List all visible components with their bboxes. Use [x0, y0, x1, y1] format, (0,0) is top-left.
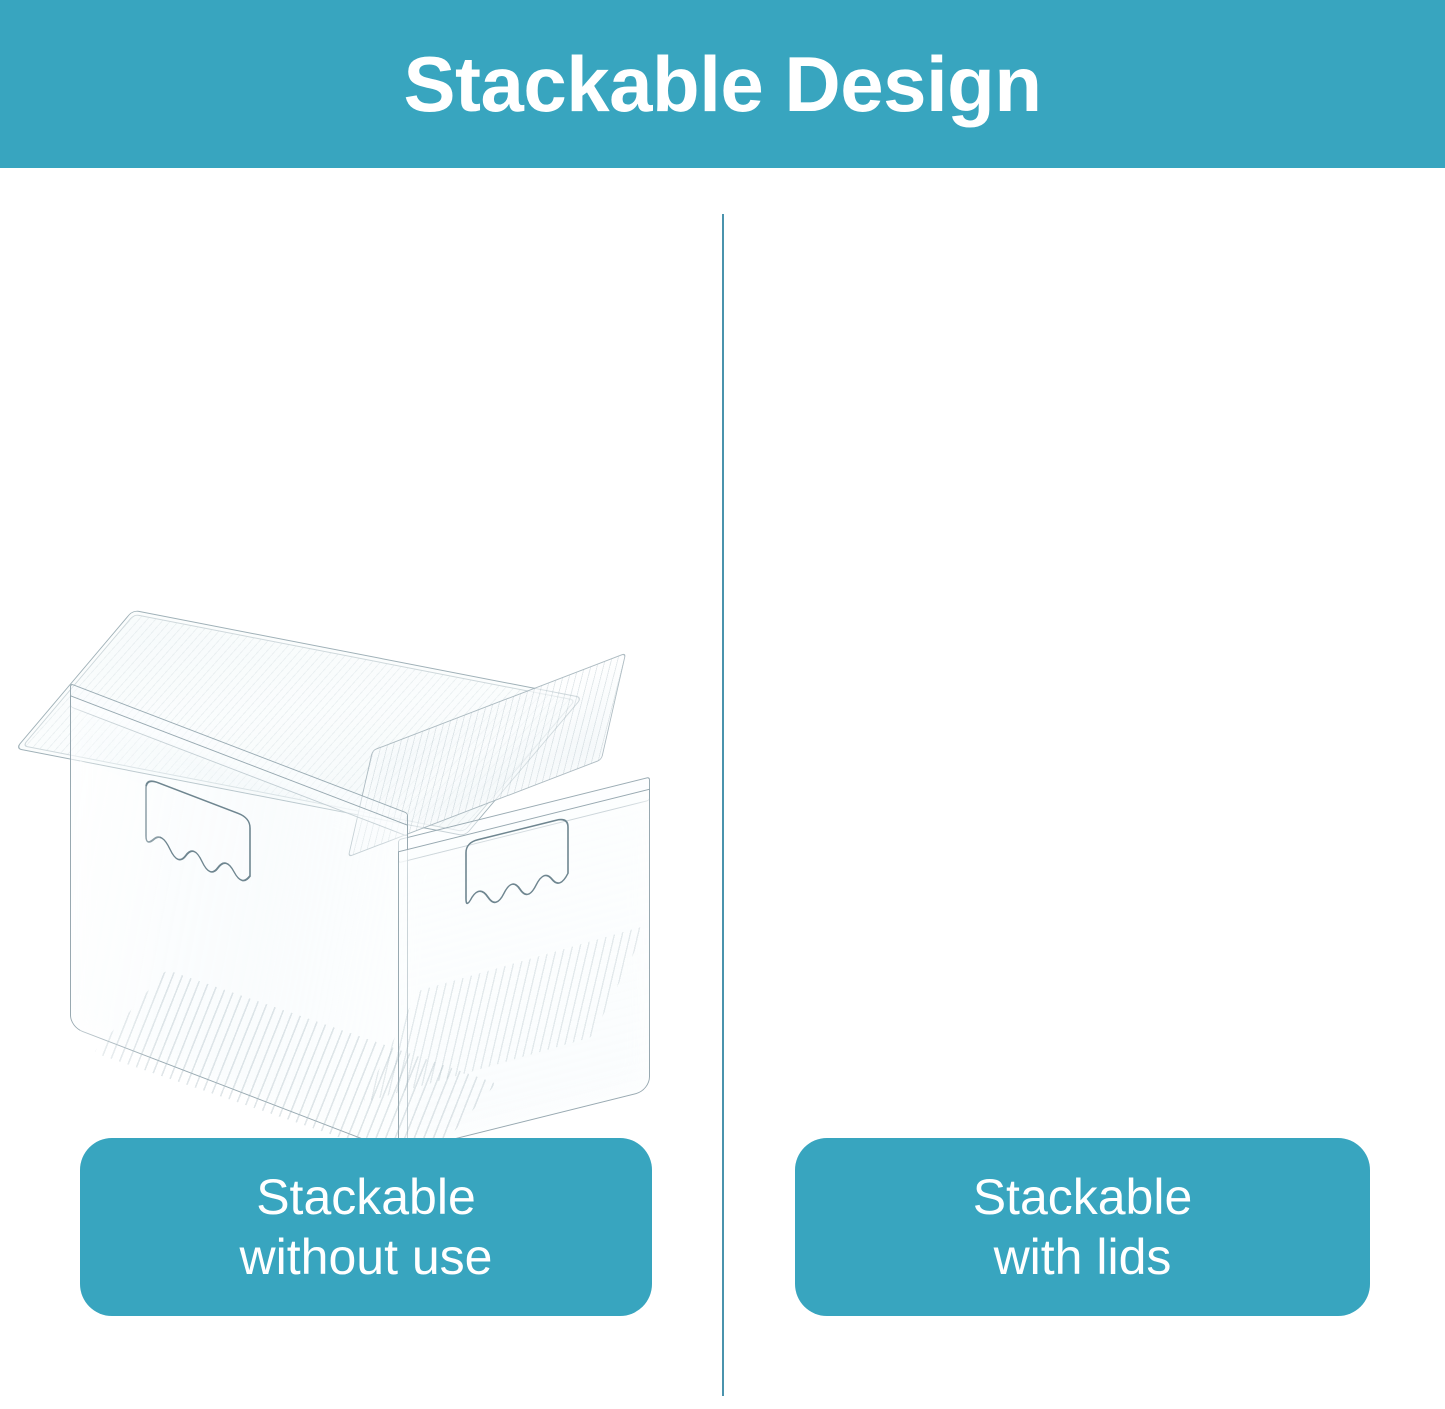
left-panel — [0, 168, 722, 1128]
product-infographic: Stackable Design — [0, 0, 1445, 1409]
caption-left-line1: Stackable — [240, 1167, 493, 1227]
right-panel: NEW OAT BISCUITS cranberry yoghurt coate… — [723, 168, 1445, 1128]
caption-right-line2: with lids — [973, 1227, 1193, 1287]
header-banner: Stackable Design — [0, 0, 1445, 168]
bin-glass-sheen — [80, 761, 160, 1092]
caption-left-line2: without use — [240, 1227, 493, 1287]
page-title: Stackable Design — [404, 45, 1042, 123]
caption-pill-right[interactable]: Stackable with lids — [795, 1138, 1370, 1316]
caption-right-line1: Stackable — [973, 1167, 1193, 1227]
storage-bin-empty — [60, 636, 680, 1156]
caption-pill-left[interactable]: Stackable without use — [80, 1138, 652, 1316]
